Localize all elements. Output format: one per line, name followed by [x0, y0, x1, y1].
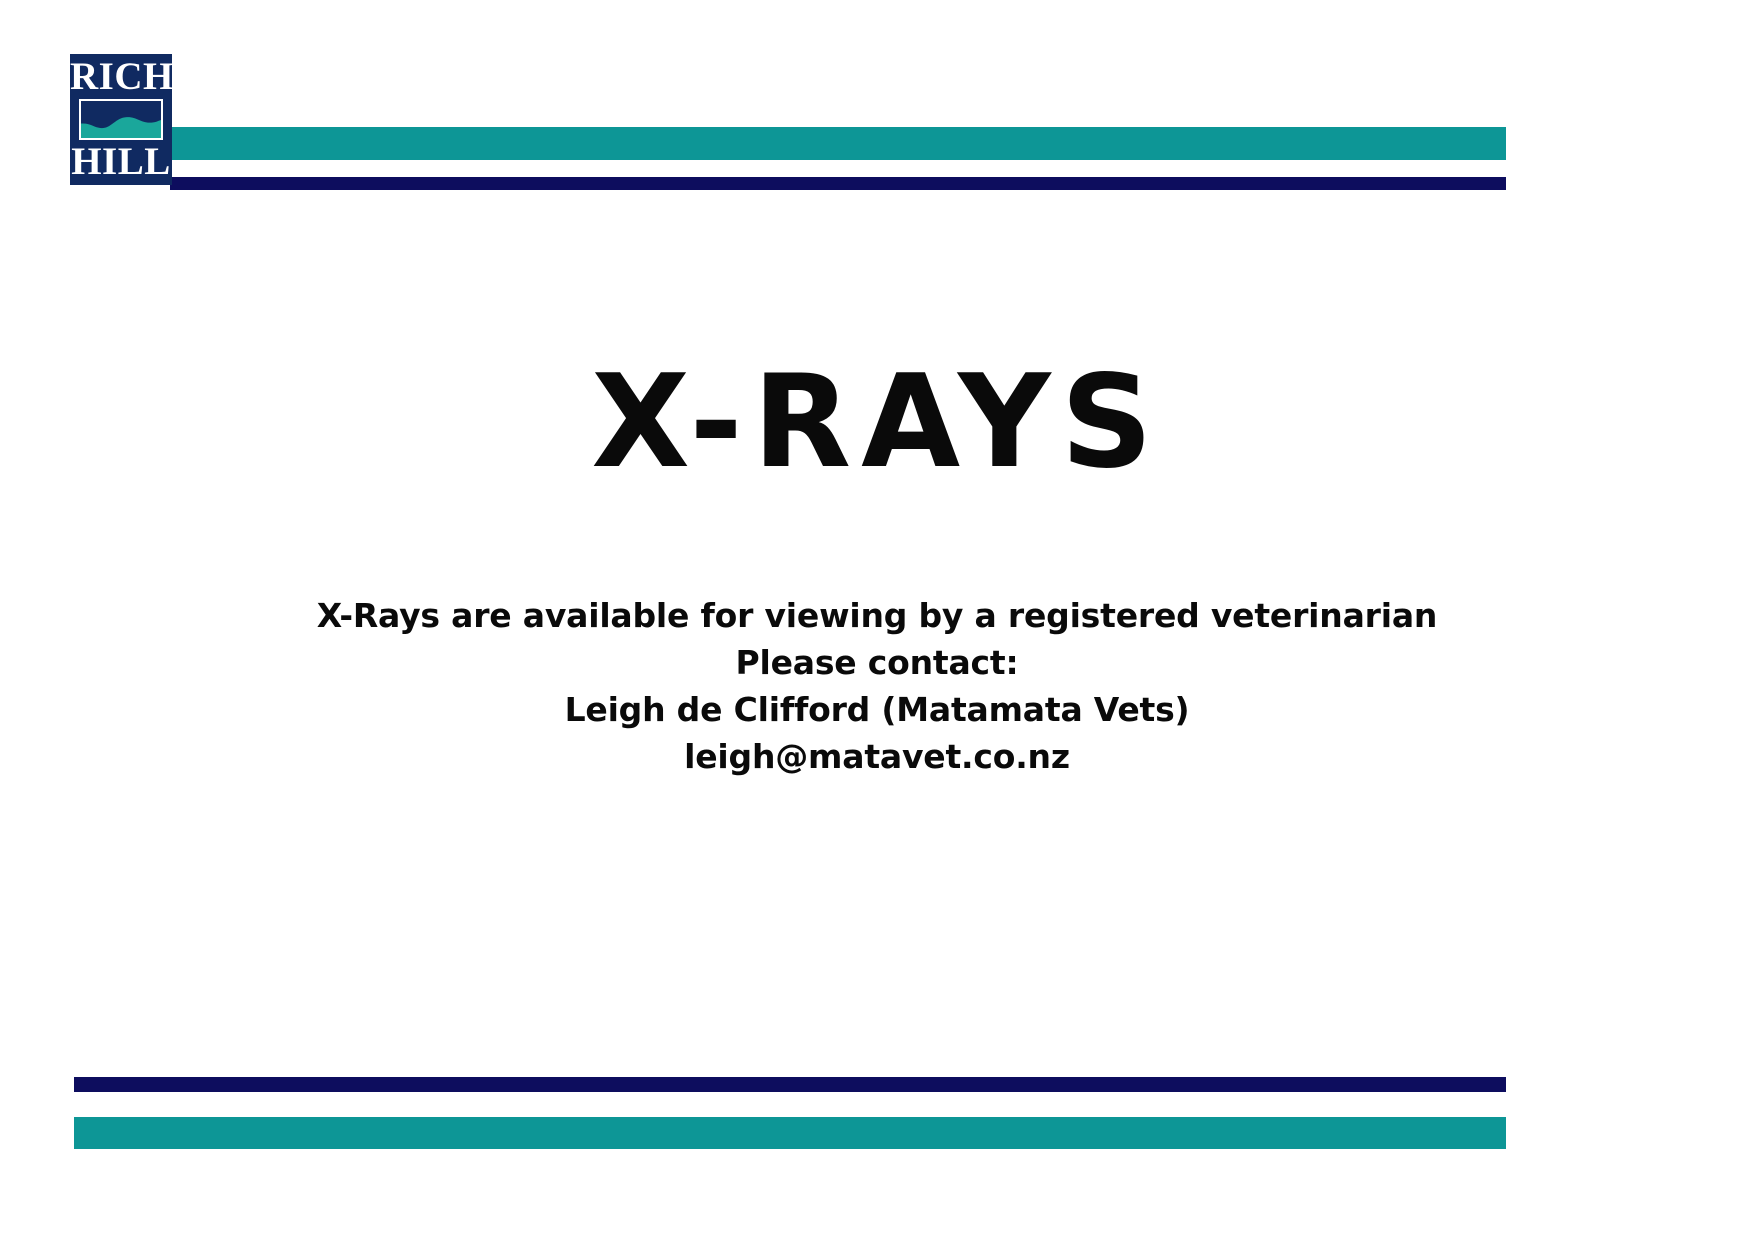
logo-text-rich: RICH	[70, 58, 172, 96]
header-rule-navy	[170, 177, 1506, 190]
logo-text-hill: HILL	[70, 143, 172, 181]
rich-hill-logo: RICH HILL	[70, 54, 172, 185]
slide-canvas: RICH HILL X-RAYS X-Rays are available fo…	[0, 0, 1754, 1240]
body-line-contact-name: Leigh de Clifford (Matamata Vets)	[0, 686, 1754, 733]
body-line-contact-email: leigh@matavet.co.nz	[0, 733, 1754, 780]
body-line-availability: X-Rays are available for viewing by a re…	[0, 592, 1754, 639]
footer-rule-navy	[74, 1077, 1506, 1092]
header-rule-teal	[170, 127, 1506, 160]
body-line-please-contact: Please contact:	[0, 639, 1754, 686]
contact-block: X-Rays are available for viewing by a re…	[0, 592, 1754, 780]
page-title: X-RAYS	[0, 356, 1754, 490]
footer-rule-teal	[74, 1117, 1506, 1149]
hill-wave-mark-icon	[79, 99, 163, 140]
